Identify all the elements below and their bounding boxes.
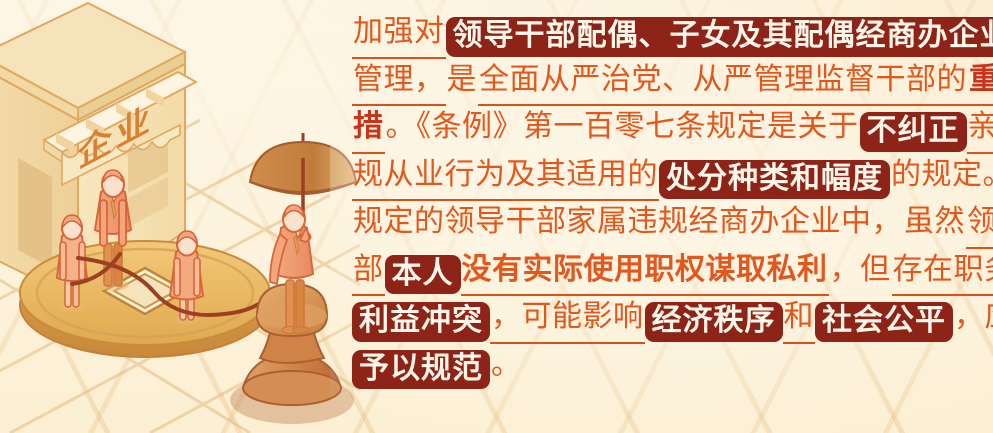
text-seg: 部: [352, 246, 385, 297]
copy-line-1: 加强对领导干部配偶、子女及其配偶经商办企业: [352, 8, 982, 56]
body-copy: 加强对领导干部配偶、子女及其配偶经商办企业 管理，是全面从严治党、从严管理监督干…: [352, 8, 982, 428]
highlight-chip: 领导干部配偶、子女及其配偶经商办企业: [446, 17, 993, 57]
text-seg-bold: 重要举: [968, 56, 993, 107]
text-seg: 。《条例》第一百零七条规定是关于: [385, 103, 860, 151]
highlight-chip: 经济秩序: [645, 302, 783, 342]
text-seg: 是: [446, 56, 479, 104]
text-seg-bold: 措: [352, 103, 385, 154]
text-seg: 加强对: [352, 8, 446, 59]
text-seg: 虽然: [903, 198, 966, 246]
illustration: 企业: [0, 0, 360, 433]
highlight-chip: 处分种类和幅度: [659, 160, 890, 200]
copy-line-8: 予以规范。: [352, 341, 982, 389]
highlight-chip: 利益冲突: [352, 302, 490, 342]
text-seg: ，但: [829, 246, 892, 294]
highlight-chip: 社会公平: [815, 302, 953, 342]
text-seg: ，可能影响: [490, 293, 645, 344]
copy-line-2: 管理，是全面从严治党、从严管理监督干部的重要举: [352, 56, 982, 104]
highlight-chip: 不纠正: [860, 112, 967, 152]
text-seg: 的规定。本条: [890, 151, 993, 199]
copy-line-7: 利益冲突，可能影响经济秩序和社会公平，应当: [352, 293, 982, 341]
poster-root: 企业: [0, 0, 993, 433]
text-seg: 。: [490, 341, 523, 389]
text-seg: 规定的领导干部家属违规经商办企业中，: [352, 198, 903, 246]
highlight-chip: 本人: [385, 255, 461, 295]
text-seg: 亲属违: [967, 103, 993, 154]
text-seg-bold: 没有实际使用职权谋取私利: [461, 246, 829, 297]
copy-line-5: 规定的领导干部家属违规经商办企业中，虽然领导干: [352, 198, 982, 246]
text-seg: 管理，: [352, 56, 446, 107]
highlight-chip: 予以规范: [352, 350, 490, 390]
text-seg: 存在职务上的: [892, 246, 993, 297]
copy-line-3: 措。《条例》第一百零七条规定是关于不纠正亲属违: [352, 103, 982, 151]
text-seg: 全面从严治党、从严管理监督干部的: [478, 56, 968, 107]
copy-line-4: 规从业行为及其适用的处分种类和幅度的规定。本条: [352, 151, 982, 199]
text-seg: 领导干: [966, 198, 993, 249]
copy-line-6: 部本人没有实际使用职权谋取私利，但存在职务上的: [352, 246, 982, 294]
text-seg: ，应当: [953, 293, 993, 341]
text-seg: 和: [783, 293, 816, 344]
coin-platform: [20, 241, 270, 357]
text-seg: 规从业行为及其适用的: [352, 151, 659, 202]
